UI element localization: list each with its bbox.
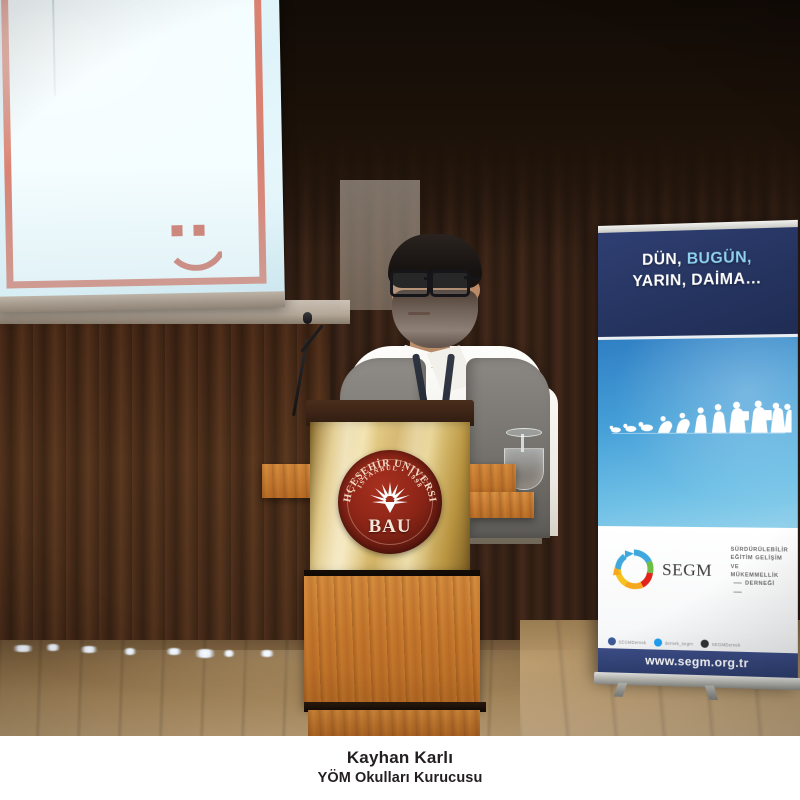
banner-headline: DÜN, BUGÜN, YARIN, DAİMA… (598, 247, 798, 294)
segm-tagline-line2: EĞİTİM GELİŞİM (731, 555, 783, 562)
facebook-icon (608, 637, 616, 645)
social-instagram-handle: SEGMDernek (712, 641, 741, 647)
screen-glare (0, 0, 285, 311)
caption-block: Kayhan Karlı YÖM Okulları Kurucusu (0, 736, 800, 800)
lectern-brass-plate: BAHÇEŞEHİR UNIVERSITY ISTANBUL • 1998 (310, 422, 470, 572)
university-seal: BAHÇEŞEHİR UNIVERSITY ISTANBUL • 1998 (338, 450, 442, 554)
seal-acronym: BAU (338, 516, 442, 538)
segm-wordmark: SEGM (662, 560, 712, 581)
instagram-icon (701, 640, 709, 648)
twitter-icon (654, 638, 662, 646)
footlight (44, 644, 62, 651)
photo-card: BAHÇEŞEHİR UNIVERSITY ISTANBUL • 1998 (0, 0, 800, 800)
segm-tagline-rule-right (734, 591, 742, 592)
rollup-banner: DÜN, BUGÜN, YARIN, DAİMA… (598, 220, 798, 684)
footlight (10, 645, 36, 652)
segm-tagline-line3: VE MÜKEMMELLİK (731, 564, 779, 579)
crown-sunburst-icon (369, 480, 411, 514)
projection-screen-surface (0, 0, 285, 311)
projection-screen (0, 0, 285, 311)
event-photo: BAHÇEŞEHİR UNIVERSITY ISTANBUL • 1998 (0, 0, 800, 736)
lectern-base (308, 710, 480, 736)
segm-tagline: SÜRDÜRÜLEBİLİR EĞİTİM GELİŞİM VE MÜKEMME… (731, 546, 789, 598)
social-twitter-handle: dernek_segm (665, 640, 693, 646)
social-twitter[interactable]: dernek_segm (654, 638, 693, 647)
eyeglasses-right-lens (430, 270, 470, 297)
lectern-left-wing (262, 464, 316, 498)
eyeglasses-left-lens (390, 270, 430, 297)
circular-arrow-logo-icon (612, 547, 656, 592)
social-facebook[interactable]: SEGMDernek (608, 637, 646, 646)
human-evolution-graphic (606, 384, 792, 440)
segm-tagline-rule-left (734, 583, 742, 584)
footlight (122, 648, 138, 655)
banner-headline-dun: DÜN, (642, 251, 687, 269)
speaker-beard (392, 290, 478, 348)
banner-headline-line2: YARIN, DAİMA… (598, 268, 798, 294)
footlight (164, 648, 184, 655)
social-instagram[interactable]: SEGMDernek (701, 640, 740, 649)
speaker-role: YÖM Okulları Kurucusu (318, 770, 483, 786)
eyeglasses-icon (384, 270, 476, 292)
lectern: BAHÇEŞEHİR UNIVERSITY ISTANBUL • 1998 (262, 400, 514, 736)
social-facebook-handle: SEGMDernek (618, 639, 646, 645)
footlight (192, 649, 218, 658)
banner-headline-bugun: BUGÜN, (687, 249, 752, 268)
segm-tagline-line4: DERNEĞİ (745, 581, 774, 588)
lectern-body (304, 576, 480, 706)
speaker-name: Kayhan Karlı (347, 748, 453, 768)
microphone-head (303, 312, 312, 324)
lectern-side-ledge (470, 492, 534, 518)
speaker-mouth (408, 312, 430, 315)
segm-tagline-line1: SÜRDÜRÜLEBİLİR (731, 547, 789, 554)
footlight (222, 650, 236, 657)
footlight (78, 646, 100, 653)
eyeglasses-bridge (424, 277, 432, 280)
segm-logo: SEGM SÜRDÜRÜLEBİLİR EĞİTİM GELİŞİM VE MÜ… (612, 542, 785, 600)
